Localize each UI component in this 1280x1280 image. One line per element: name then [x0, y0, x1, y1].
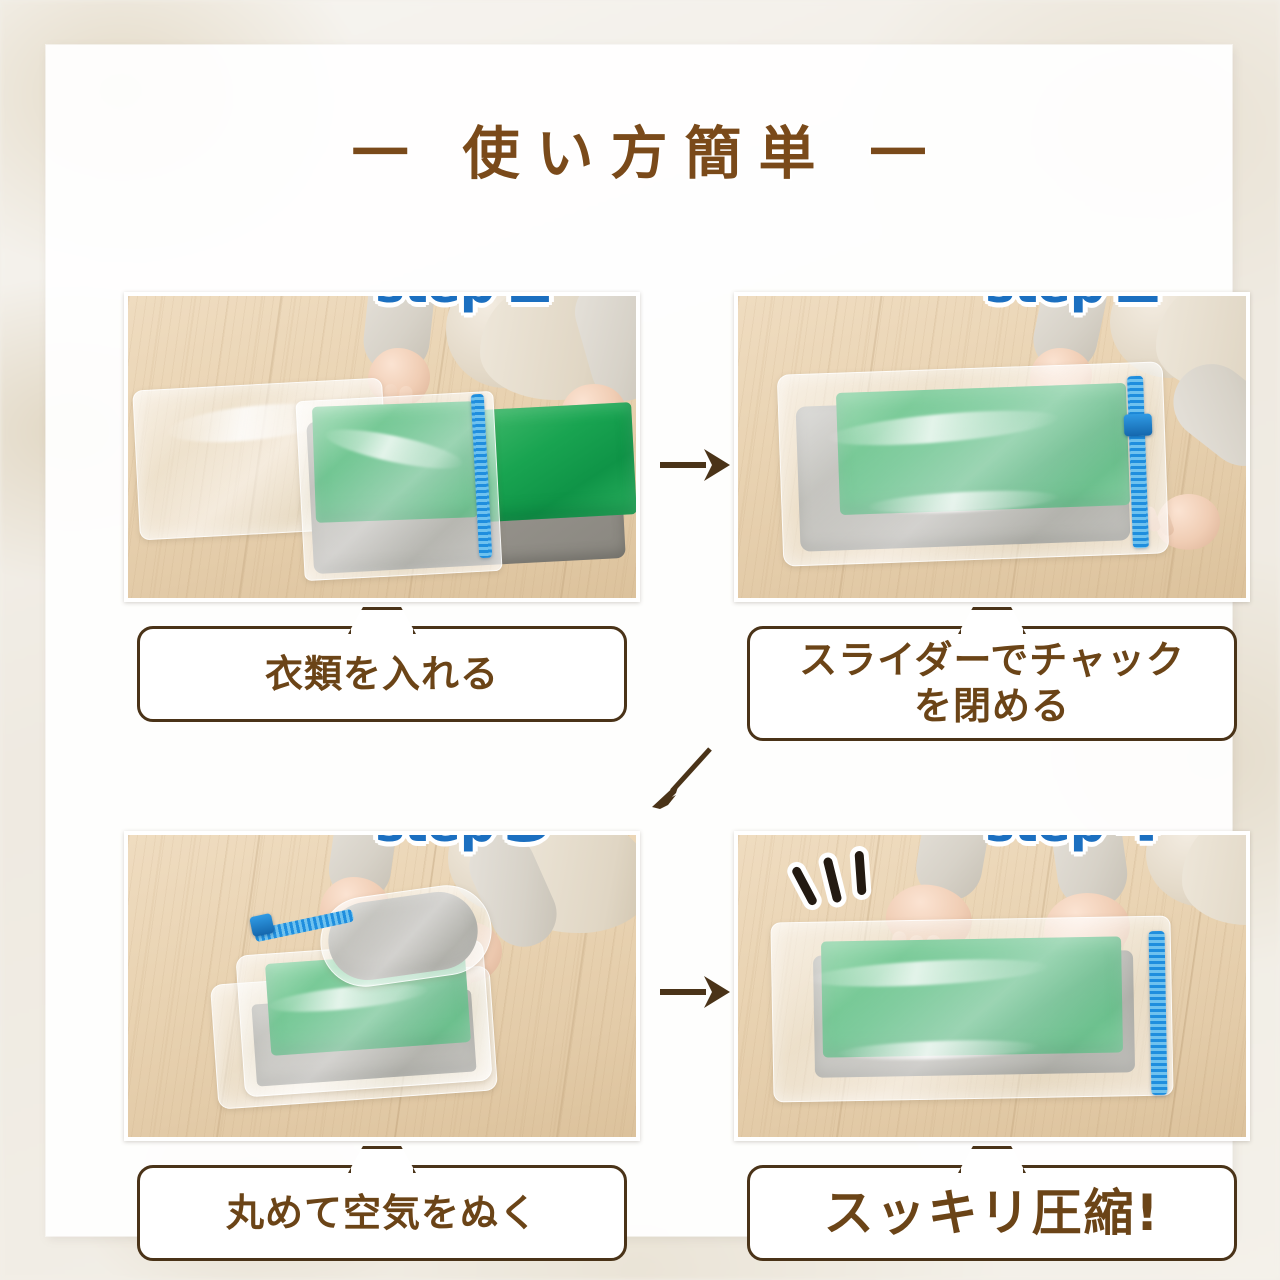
step-photo-2: step 2 — [734, 292, 1250, 602]
bag-zipper — [1149, 931, 1168, 1095]
step-caption-1: 衣類を入れる — [137, 626, 627, 722]
arrow-step1-to-step2 — [658, 443, 732, 487]
step-photo-1: step 1 — [124, 292, 640, 602]
caption-line-1: スッキリ圧縮! — [824, 1183, 1161, 1244]
step-block-3: step 3 丸めて空気をぬく — [124, 831, 640, 1261]
caption-line-1: 衣類を入れる — [265, 651, 499, 697]
step-block-1: step 1 衣類を入れる — [124, 292, 640, 722]
step-photo-3: step 3 — [124, 831, 640, 1141]
content-card: 一 使い方簡単 一 — [46, 45, 1232, 1236]
step-caption-2: スライダーでチャック を閉める — [747, 626, 1237, 741]
green-clothing-right — [481, 402, 637, 522]
zipper-slider — [1124, 414, 1153, 437]
caption-line-1: 丸めて空気をぬく — [226, 1190, 538, 1236]
step-block-4: step 4 スッキリ圧縮! — [734, 831, 1250, 1261]
step-photo-4: step 4 — [734, 831, 1250, 1141]
arrow-step3-to-step4 — [658, 970, 732, 1014]
step-caption-3: 丸めて空気をぬく — [137, 1165, 627, 1261]
caption-line-1: スライダーでチャック — [799, 637, 1185, 683]
compression-bag — [777, 361, 1169, 566]
step-block-2: step 2 スライダーでチャック を閉める — [734, 292, 1250, 741]
page-title: 一 使い方簡単 一 — [46, 108, 1232, 190]
compression-bag — [770, 916, 1173, 1103]
caption-line-2: を閉める — [799, 683, 1185, 729]
arrow-step2-to-step3 — [646, 743, 720, 813]
step-caption-4: スッキリ圧縮! — [747, 1165, 1237, 1261]
